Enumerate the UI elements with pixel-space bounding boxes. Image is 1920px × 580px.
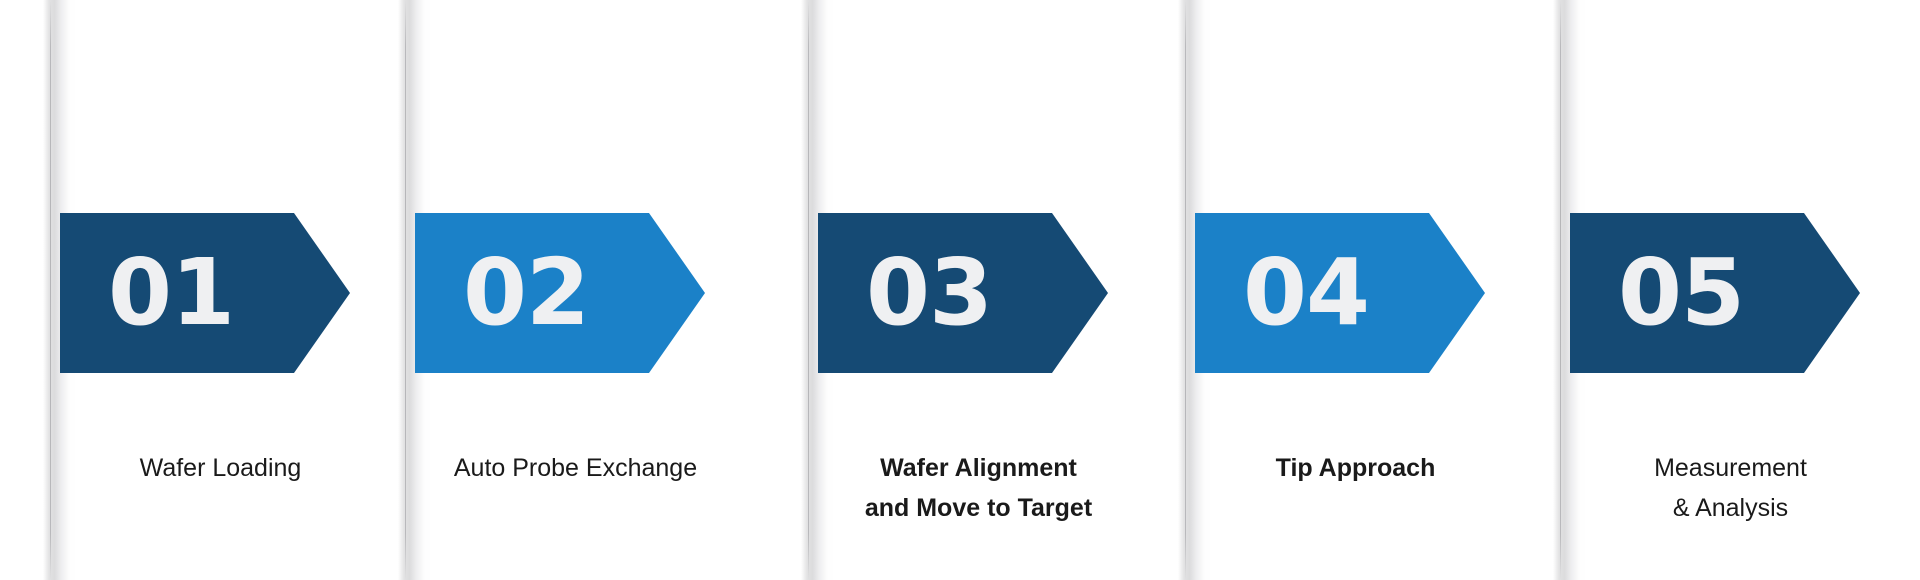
step-number-4: 04 <box>1195 247 1369 339</box>
step-card-1: 01 Wafer Loading <box>43 0 398 580</box>
step-card-4: 04 Tip Approach <box>1178 0 1533 580</box>
process-flow-diagram: 01 Wafer Loading 02 Auto Probe Exchange … <box>0 0 1920 580</box>
step-number-3: 03 <box>818 247 992 339</box>
step-card-5: 05 Measurement & Analysis <box>1553 0 1920 580</box>
card-edge-divider <box>405 0 406 580</box>
step-number-2: 02 <box>415 247 589 339</box>
step-number-1: 01 <box>60 247 234 339</box>
step-arrow-5[interactable]: 05 <box>1570 213 1860 373</box>
step-arrow-4[interactable]: 04 <box>1195 213 1485 373</box>
step-arrow-3[interactable]: 03 <box>818 213 1108 373</box>
step-arrow-2[interactable]: 02 <box>415 213 705 373</box>
step-card-3: 03 Wafer Alignment and Move to Target <box>801 0 1156 580</box>
step-number-5: 05 <box>1570 247 1744 339</box>
step-label-5: Measurement & Analysis <box>1553 448 1908 528</box>
step-label-2: Auto Probe Exchange <box>398 448 753 488</box>
step-card-2: 02 Auto Probe Exchange <box>398 0 753 580</box>
step-label-4: Tip Approach <box>1178 448 1533 488</box>
step-label-1: Wafer Loading <box>43 448 398 488</box>
step-arrow-1[interactable]: 01 <box>60 213 350 373</box>
card-edge-divider <box>1185 0 1186 580</box>
step-label-3: Wafer Alignment and Move to Target <box>801 448 1156 528</box>
card-edge-divider <box>50 0 51 580</box>
